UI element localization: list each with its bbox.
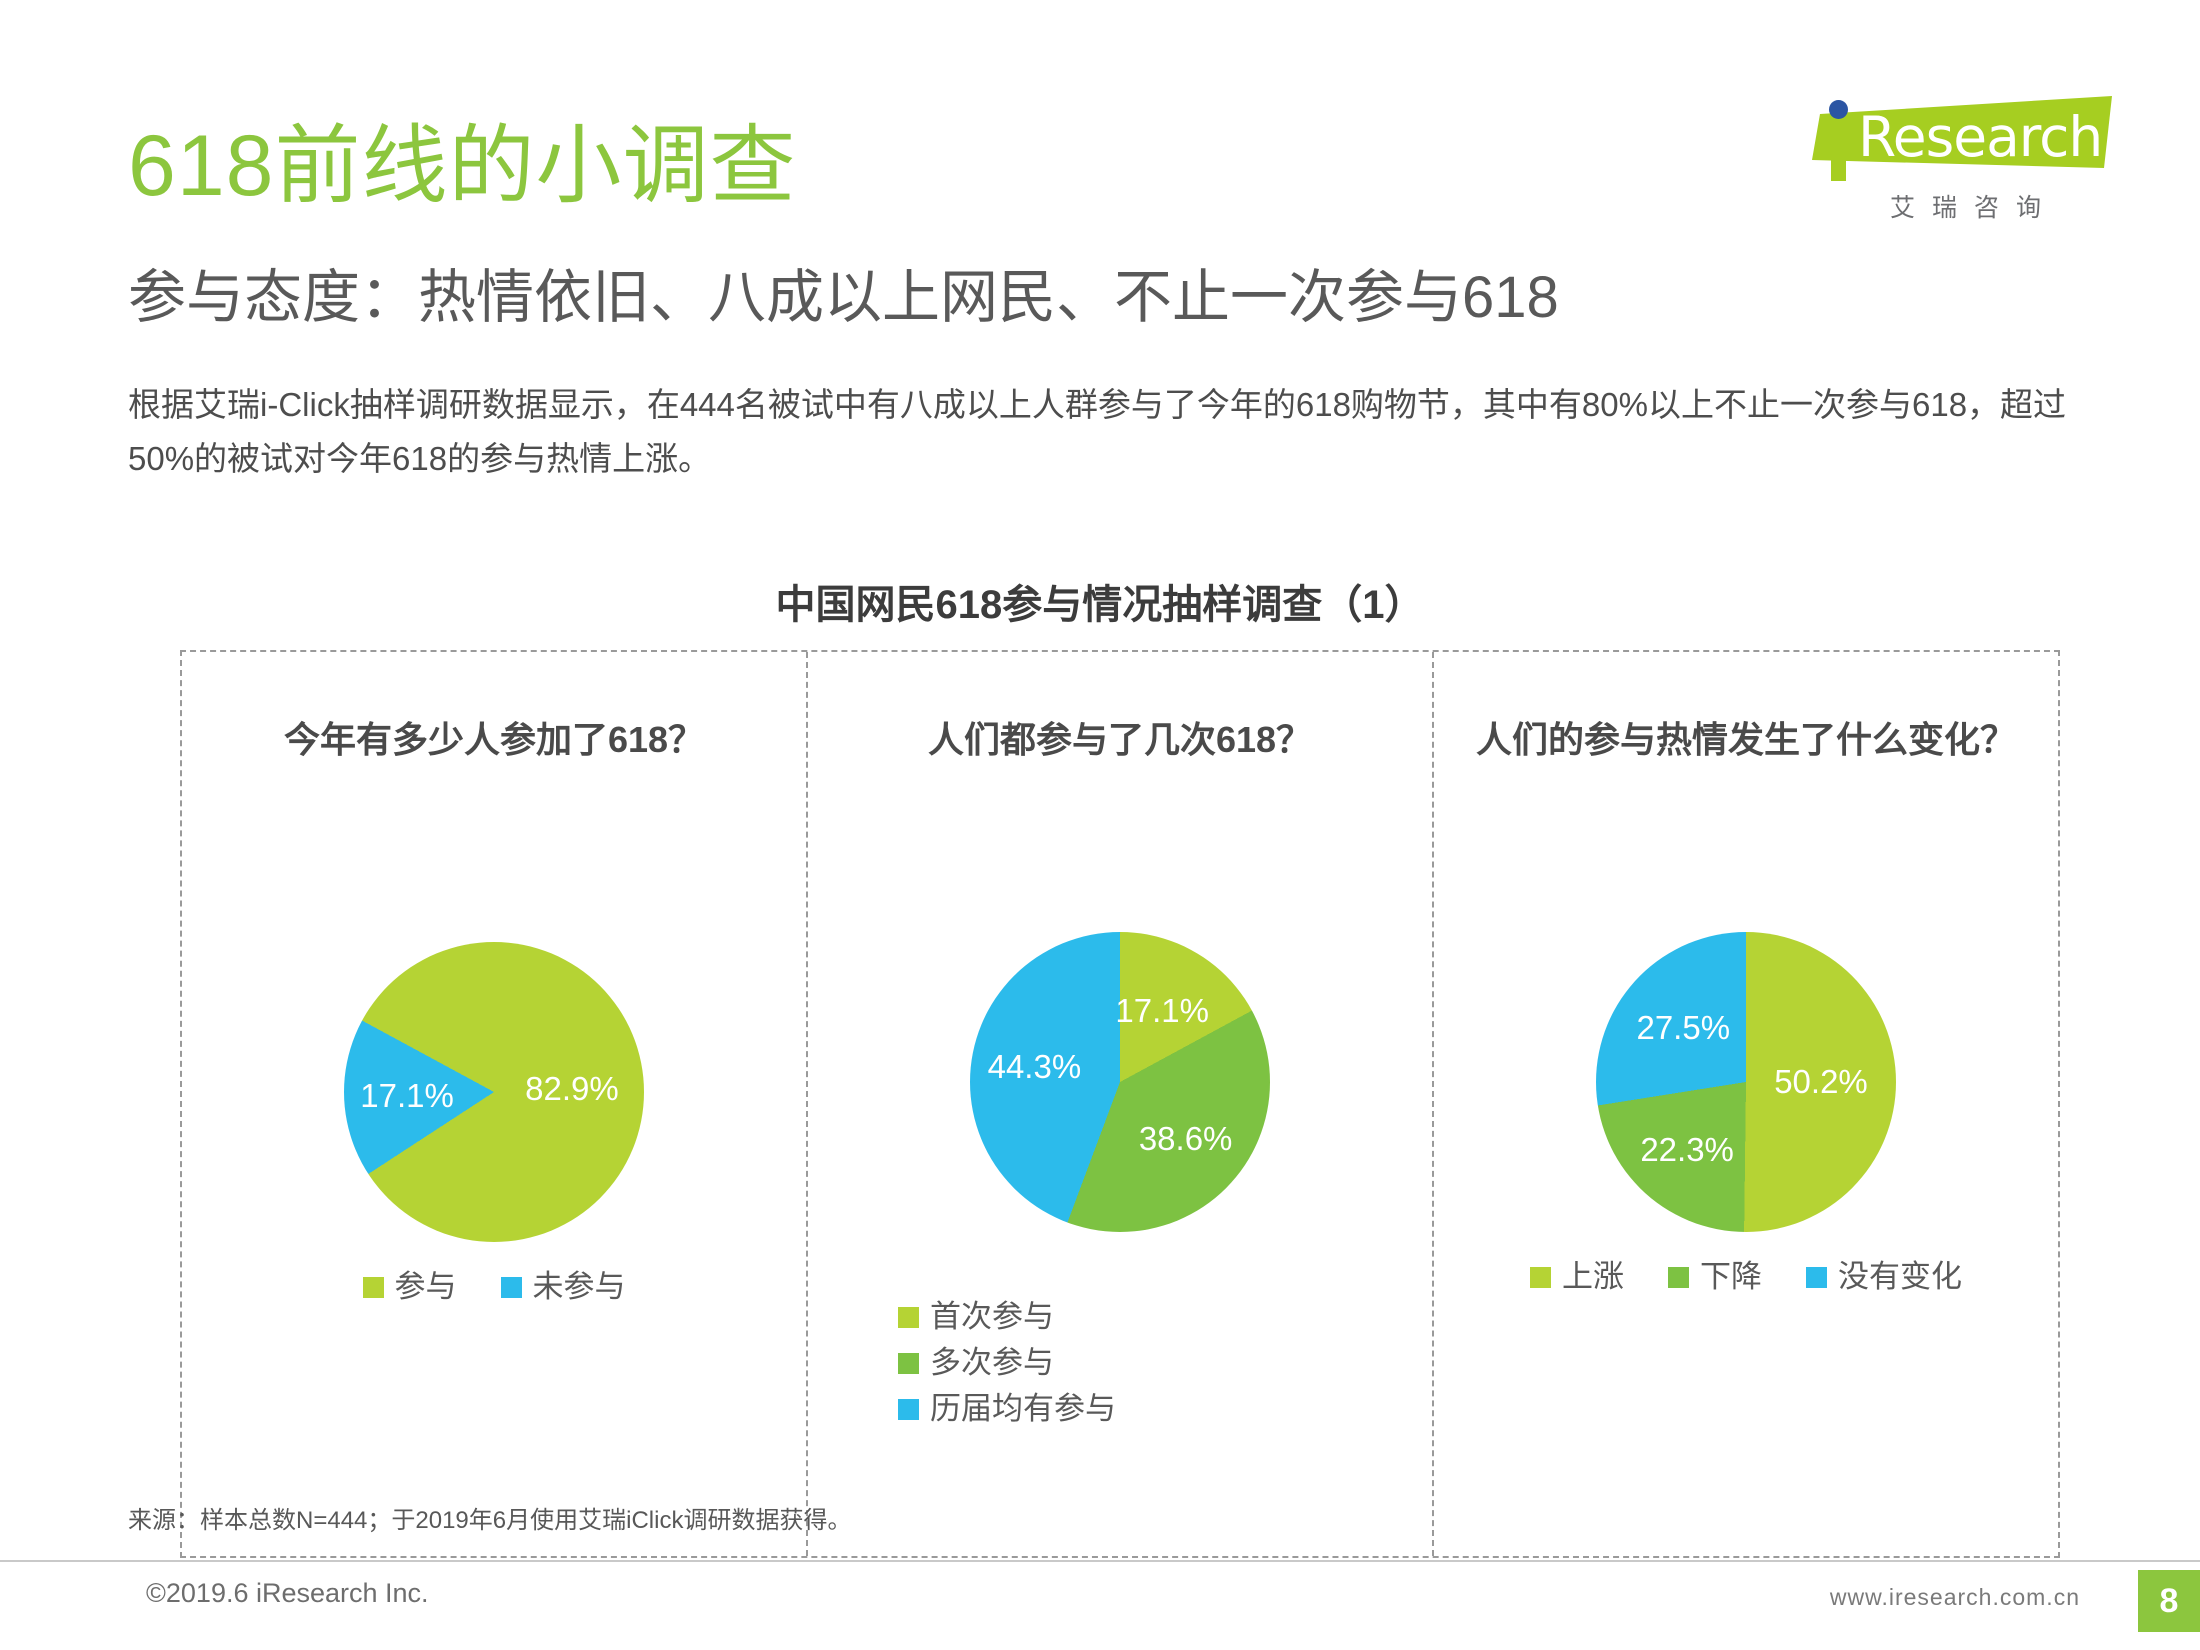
panel-question: 人们都参与了几次618？ [808, 714, 1432, 766]
pie-chart-1: 82.9%17.1% [182, 942, 806, 1242]
panel-question: 人们的参与热情发生了什么变化？ [1434, 714, 2058, 766]
pie-legend-3: 上涨下降没有变化 [1434, 1260, 2058, 1294]
legend-item[interactable]: 多次参与 [898, 1346, 1432, 1380]
legend-label: 历届均有参与 [930, 1392, 1116, 1426]
panel-question: 今年有多少人参加了618？ [182, 714, 806, 766]
source-note: 来源：样本总数N=444；于2019年6月使用艾瑞iClick调研数据获得。 [128, 1500, 851, 1535]
legend-swatch-icon [1530, 1267, 1551, 1288]
logo-chinese-name: 艾瑞咨询 [1838, 188, 2110, 224]
pie-slice-value-label: 38.6% [1139, 1120, 1233, 1158]
legend-label: 多次参与 [930, 1346, 1054, 1380]
lead-paragraph: 根据艾瑞i-Click抽样调研数据显示，在444名被试中有八成以上人群参与了今年… [128, 378, 2088, 486]
legend-swatch-icon [898, 1307, 919, 1328]
legend-label: 没有变化 [1838, 1260, 1962, 1294]
pie-slice-value-label: 17.1% [1115, 992, 1209, 1030]
pie-slices: 82.9%17.1% [344, 942, 644, 1242]
legend-label: 上涨 [1562, 1260, 1624, 1294]
pie-slice-value-label: 50.2% [1774, 1063, 1868, 1101]
pie-slice-value-label: 22.3% [1640, 1131, 1734, 1169]
page-subtitle: 参与态度：热情依旧、八成以上网民、不止一次参与618 [128, 265, 1559, 331]
legend-item[interactable]: 没有变化 [1806, 1260, 1962, 1294]
pie-slice-value-label: 17.1% [360, 1077, 454, 1115]
legend-item[interactable]: 未参与 [501, 1270, 626, 1304]
legend-item[interactable]: 参与 [363, 1270, 457, 1304]
logo-wordmark: Research [1858, 108, 2102, 166]
legend-label: 首次参与 [930, 1300, 1054, 1334]
pie-slices: 17.1%38.6%44.3% [970, 932, 1270, 1232]
footer-website: www.iresearch.com.cn [1830, 1584, 2080, 1611]
chart-panel-1: 今年有多少人参加了618？ 82.9%17.1% 参与未参与 [182, 652, 808, 1556]
footer-divider [0, 1560, 2200, 1562]
legend-item[interactable]: 历届均有参与 [898, 1392, 1432, 1426]
legend-item[interactable]: 上涨 [1530, 1260, 1624, 1294]
pie-slice-value-label: 44.3% [988, 1048, 1082, 1086]
pie-chart-3: 50.2%22.3%27.5% [1434, 932, 2058, 1232]
legend-label: 下降 [1700, 1260, 1762, 1294]
pie-slice-value-label: 27.5% [1636, 1009, 1730, 1047]
legend-swatch-icon [898, 1353, 919, 1374]
page-number-badge: 8 [2138, 1570, 2200, 1632]
pie-legend-2: 首次参与多次参与历届均有参与 [808, 1300, 1432, 1426]
footer-copyright: ©2019.6 iResearch Inc. [146, 1578, 429, 1609]
pie-legend-1: 参与未参与 [182, 1270, 806, 1304]
legend-swatch-icon [1668, 1267, 1689, 1288]
legend-label: 未参与 [533, 1270, 626, 1304]
chart-title: 中国网民618参与情况抽样调查（1） [0, 572, 2200, 630]
legend-item[interactable]: 下降 [1668, 1260, 1762, 1294]
chart-frame: 今年有多少人参加了618？ 82.9%17.1% 参与未参与 人们都参与了几次6… [180, 650, 2060, 1558]
chart-panel-2: 人们都参与了几次618？ 17.1%38.6%44.3% 首次参与多次参与历届均… [808, 652, 1434, 1556]
pie-slices: 50.2%22.3%27.5% [1596, 932, 1896, 1232]
pie-chart-2: 17.1%38.6%44.3% [808, 932, 1432, 1232]
page-header: 618前线的小调查 参与态度：热情依旧、八成以上网民、不止一次参与618 Res… [0, 0, 2200, 340]
chart-panel-3: 人们的参与热情发生了什么变化？ 50.2%22.3%27.5% 上涨下降没有变化 [1434, 652, 2058, 1556]
logo-i-dot-icon [1829, 100, 1848, 119]
legend-item[interactable]: 首次参与 [898, 1300, 1432, 1334]
legend-swatch-icon [501, 1277, 522, 1298]
legend-swatch-icon [1806, 1267, 1827, 1288]
page-title: 618前线的小调查 [128, 118, 797, 214]
pie-slice-value-label: 82.9% [525, 1070, 619, 1108]
logo-i-stem-icon [1831, 125, 1846, 181]
legend-swatch-icon [363, 1277, 384, 1298]
legend-label: 参与 [395, 1270, 457, 1304]
iresearch-logo: Research 艾瑞咨询 [1812, 70, 2152, 230]
legend-swatch-icon [898, 1399, 919, 1420]
